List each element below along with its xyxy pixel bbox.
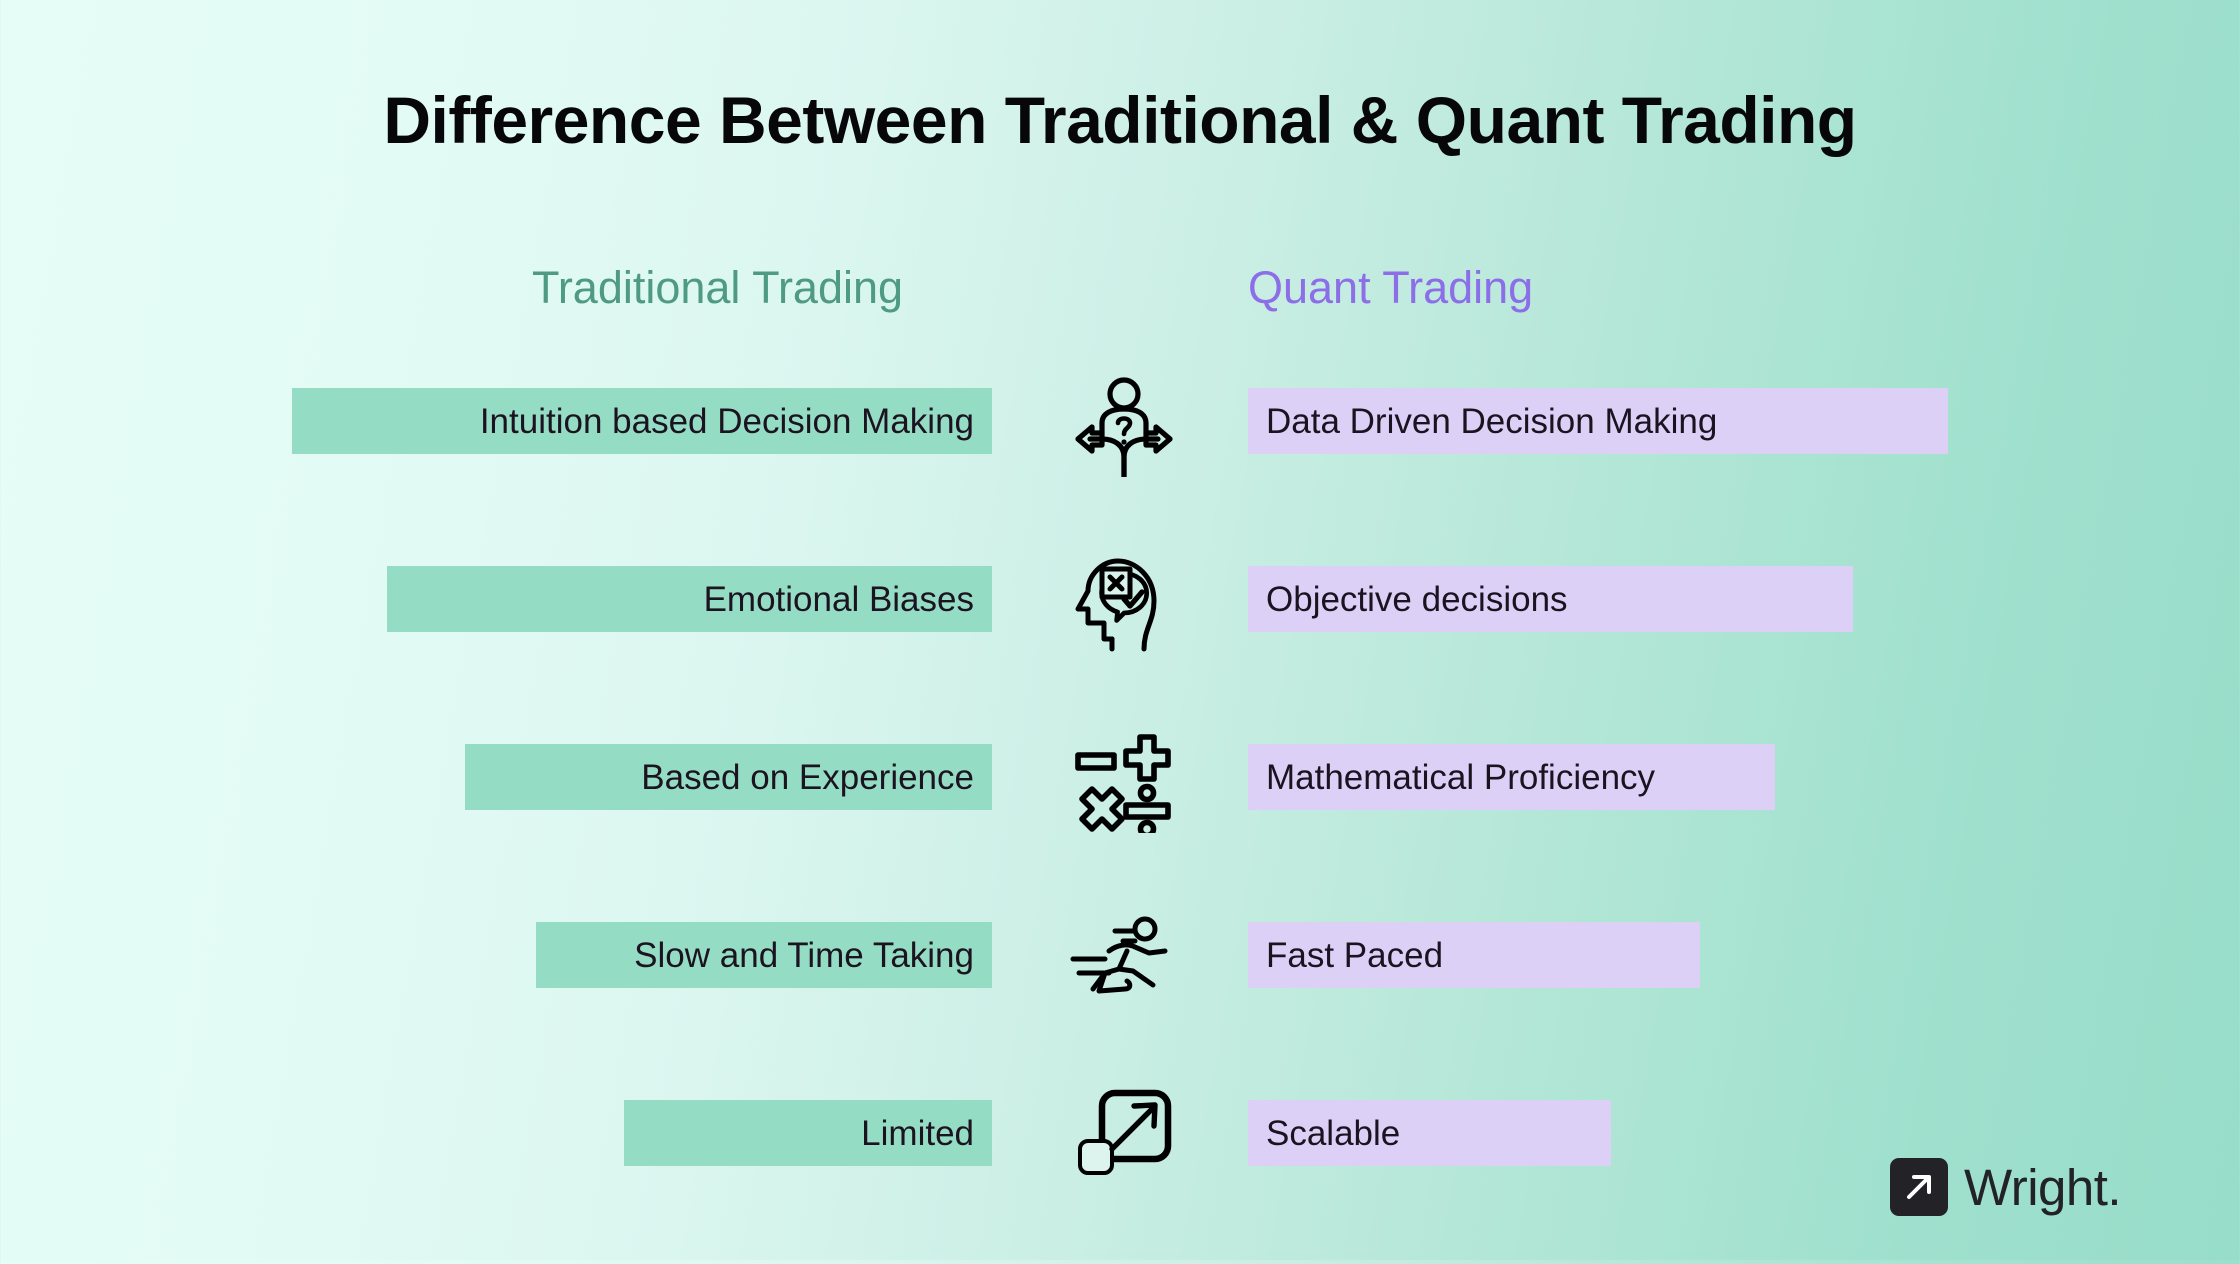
comparison-row: Slow and Time Taking Fast Paced	[0, 908, 2240, 1086]
scale-expand-arrow-icon	[1052, 1082, 1196, 1192]
quant-bar: Data Driven Decision Making	[1248, 388, 1948, 454]
quant-bar-label: Scalable	[1266, 1116, 1400, 1151]
comparison-row: Based on Experience Mathematical Profici…	[0, 730, 2240, 908]
comparison-rows: Intuition based Decision Making Data Dri…	[0, 374, 2240, 1264]
traditional-bar: Limited	[624, 1100, 992, 1166]
traditional-bar: Slow and Time Taking	[536, 922, 992, 988]
quant-bar-label: Mathematical Proficiency	[1266, 760, 1655, 795]
traditional-bar-label: Based on Experience	[641, 760, 974, 795]
quant-bar: Scalable	[1248, 1100, 1611, 1166]
traditional-bar-label: Intuition based Decision Making	[480, 404, 974, 439]
logo-wordmark: Wright.	[1964, 1162, 2121, 1213]
quant-bar: Objective decisions	[1248, 566, 1853, 632]
running-person-icon	[1052, 904, 1196, 1014]
quant-bar-label: Data Driven Decision Making	[1266, 404, 1717, 439]
comparison-row: Emotional Biases Objective decisions	[0, 552, 2240, 730]
column-heading-traditional: Traditional Trading	[532, 262, 903, 314]
head-bias-thought-icon	[1052, 548, 1196, 658]
quant-bar: Mathematical Proficiency	[1248, 744, 1775, 810]
traditional-bar: Based on Experience	[465, 744, 992, 810]
traditional-bar: Emotional Biases	[387, 566, 992, 632]
comparison-row: Intuition based Decision Making Data Dri…	[0, 374, 2240, 552]
page-title: Difference Between Traditional & Quant T…	[0, 82, 2240, 158]
traditional-bar-label: Emotional Biases	[704, 582, 974, 617]
traditional-bar: Intuition based Decision Making	[292, 388, 992, 454]
math-operators-icon	[1052, 726, 1196, 836]
person-decision-fork-icon	[1052, 370, 1196, 480]
traditional-bar-label: Limited	[861, 1116, 974, 1151]
wright-logo: Wright.	[1890, 1158, 2121, 1216]
traditional-bar-label: Slow and Time Taking	[634, 938, 974, 973]
column-heading-quant: Quant Trading	[1248, 262, 1533, 314]
arrow-up-right-icon	[1890, 1158, 1948, 1216]
quant-bar-label: Objective decisions	[1266, 582, 1568, 617]
quant-bar-label: Fast Paced	[1266, 938, 1443, 973]
quant-bar: Fast Paced	[1248, 922, 1700, 988]
